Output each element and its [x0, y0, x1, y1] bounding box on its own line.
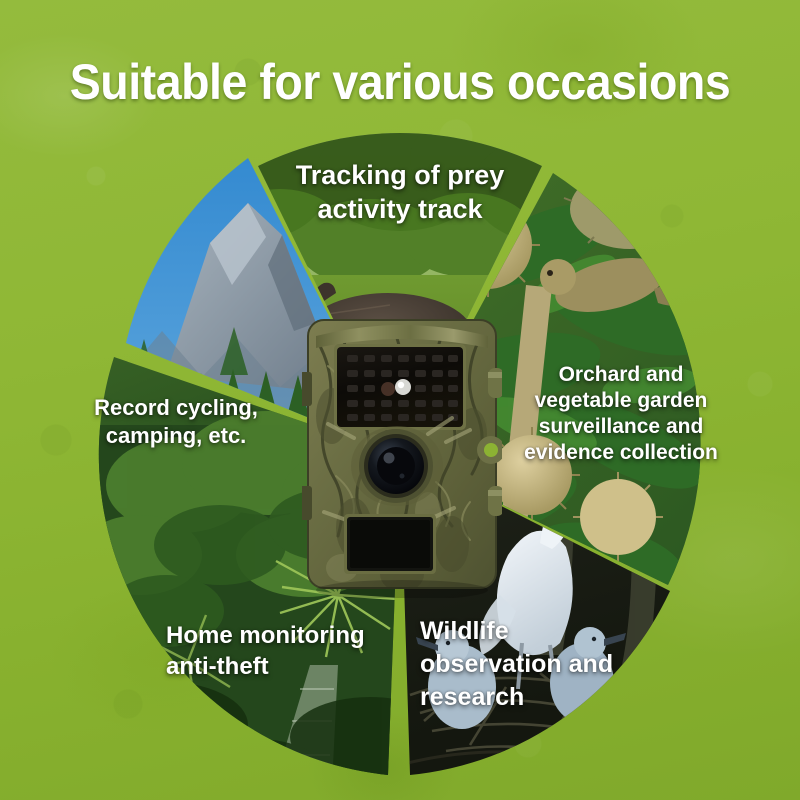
- ir-led-panel: [334, 344, 466, 430]
- pir-sensor: [344, 514, 436, 574]
- camera-lens: [351, 426, 443, 506]
- trail-camera[interactable]: [302, 306, 502, 598]
- poster-root: Suitable for various occasions: [0, 0, 800, 800]
- page-title: Suitable for various occasions: [28, 52, 772, 112]
